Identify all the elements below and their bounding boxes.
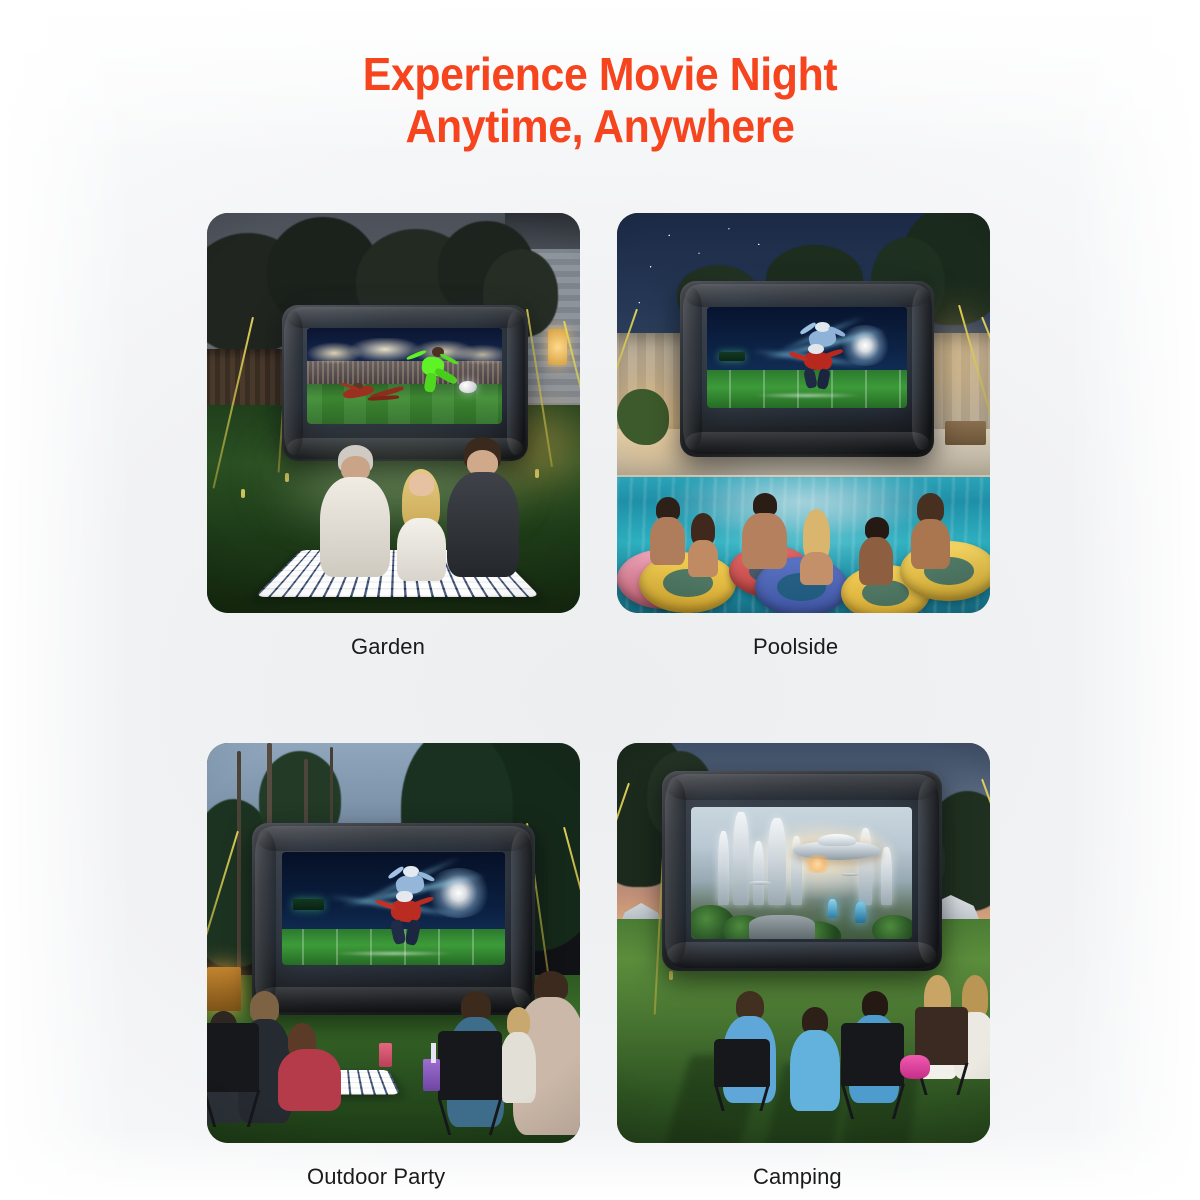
inflatable-projector-screen — [680, 281, 934, 457]
field-logo — [333, 951, 453, 956]
scenario-cell-garden: Garden — [207, 213, 580, 661]
frame-bolster-left — [284, 311, 302, 455]
pink-bag — [900, 1055, 930, 1079]
scenario-caption-outdoor-party: Outdoor Party — [207, 1163, 580, 1191]
frame-bolster-right — [912, 288, 931, 450]
viewer-adult-right — [446, 437, 521, 577]
small-craft — [841, 873, 859, 876]
page-title-line-1: Experience Movie Night — [42, 48, 1158, 100]
energy-pod — [828, 899, 837, 917]
frame-bolster-left — [683, 288, 702, 450]
frame-bolster-right — [918, 779, 939, 963]
viewer-reclining — [278, 1023, 341, 1111]
house-lit-window — [548, 329, 567, 365]
projection-surface-scifi — [691, 807, 912, 939]
chair-leg — [489, 1098, 502, 1135]
frame-bolster-bottom — [685, 432, 929, 455]
swimmer — [740, 493, 788, 569]
engine-glow — [802, 855, 833, 873]
scenario-image-poolside[interactable] — [617, 213, 990, 613]
city-spire — [881, 847, 892, 905]
garden-scene — [207, 213, 580, 613]
chair-leg — [438, 1098, 451, 1135]
scoreboard — [293, 899, 324, 909]
frame-bolster-bottom — [667, 942, 936, 968]
chair-leg — [715, 1085, 725, 1111]
poolside-scene — [617, 213, 990, 613]
chair-leg — [956, 1063, 968, 1095]
frame-bolster-left — [255, 831, 276, 1008]
scenario-gallery: Garden — [207, 213, 993, 1191]
frame-bolster-right — [507, 311, 525, 455]
frame-bolster-top — [667, 774, 936, 800]
scenario-image-garden[interactable] — [207, 213, 580, 613]
swimmer — [796, 509, 837, 585]
page-title: Experience Movie Night Anytime, Anywhere — [0, 48, 1200, 152]
camping-chair — [438, 1031, 501, 1135]
scenario-image-outdoor-party[interactable] — [207, 743, 580, 1143]
swimmer — [684, 513, 721, 577]
chair-back — [714, 1039, 770, 1087]
swimmer — [647, 497, 688, 565]
rope-peg — [535, 469, 539, 478]
frame-bolster-left — [665, 779, 686, 963]
cup-straw — [431, 1043, 437, 1063]
camper-seated — [789, 1007, 841, 1111]
rope-peg — [669, 971, 673, 980]
swimmer — [856, 517, 897, 585]
football-game-media — [707, 307, 907, 407]
gallery-row-2: Outdoor Party — [207, 743, 993, 1191]
soccer-ball — [459, 381, 477, 393]
tree-trunk — [237, 751, 241, 999]
scenario-caption-garden: Garden — [207, 633, 580, 661]
city-spire — [733, 812, 748, 904]
frame-bolster-top — [287, 307, 523, 327]
rope-peg — [241, 489, 245, 498]
scoreboard — [719, 352, 745, 361]
rock-outcrop — [749, 915, 815, 939]
projection-surface-soccer — [307, 328, 501, 423]
football-game-media — [282, 852, 506, 965]
projection-surface-football — [707, 307, 907, 407]
outdoor-party-scene — [207, 743, 580, 1143]
camping-scene — [617, 743, 990, 1143]
chair-back — [841, 1023, 904, 1086]
inflatable-projector-screen — [252, 823, 535, 1015]
football-player-red — [378, 895, 438, 949]
chair-leg — [207, 1090, 216, 1127]
viewer-child-center — [394, 469, 450, 581]
camping-chair — [207, 1023, 259, 1127]
chair-back — [207, 1023, 259, 1092]
football-player-red — [791, 348, 847, 394]
camping-chair — [841, 1023, 904, 1119]
patio-side-table — [945, 421, 986, 445]
small-craft — [749, 881, 771, 885]
inflatable-projector-screen — [662, 771, 942, 971]
viewer-adult-left — [319, 445, 394, 577]
camping-chair — [915, 1007, 967, 1095]
projection-surface-football — [282, 852, 506, 965]
gallery-row-1: Garden — [207, 213, 993, 661]
viewer-seated — [498, 1007, 539, 1103]
frame-bolster-top — [685, 284, 929, 307]
scifi-movie-media — [691, 807, 912, 939]
scenario-caption-poolside: Poolside — [617, 633, 990, 661]
chair-leg — [247, 1090, 260, 1127]
jungle-foliage — [872, 915, 912, 939]
scenario-cell-outdoor-party: Outdoor Party — [207, 743, 580, 1191]
energy-pod — [855, 902, 866, 923]
city-spire — [753, 841, 764, 904]
frame-bolster-top — [257, 826, 529, 851]
scenario-cell-camping: Camping — [617, 743, 990, 1191]
city-spire — [859, 828, 872, 905]
scenario-caption-camping: Camping — [617, 1163, 990, 1191]
chair-back — [438, 1031, 501, 1100]
soccer-match-media — [307, 328, 501, 423]
drink-cup — [423, 1059, 440, 1091]
lantern — [207, 967, 241, 1011]
rope-peg — [285, 473, 289, 482]
shrub — [617, 389, 669, 445]
scenario-image-camping[interactable] — [617, 743, 990, 1143]
city-spire — [768, 818, 786, 905]
chair-leg — [841, 1084, 853, 1119]
page-title-line-2: Anytime, Anywhere — [42, 100, 1158, 152]
camping-chair — [714, 1039, 770, 1111]
chair-leg — [759, 1085, 769, 1111]
scenario-cell-poolside: Poolside — [617, 213, 990, 661]
city-spire — [718, 831, 729, 905]
chair-leg — [892, 1084, 904, 1119]
drink-cup — [379, 1043, 392, 1067]
swimmer — [908, 493, 953, 569]
